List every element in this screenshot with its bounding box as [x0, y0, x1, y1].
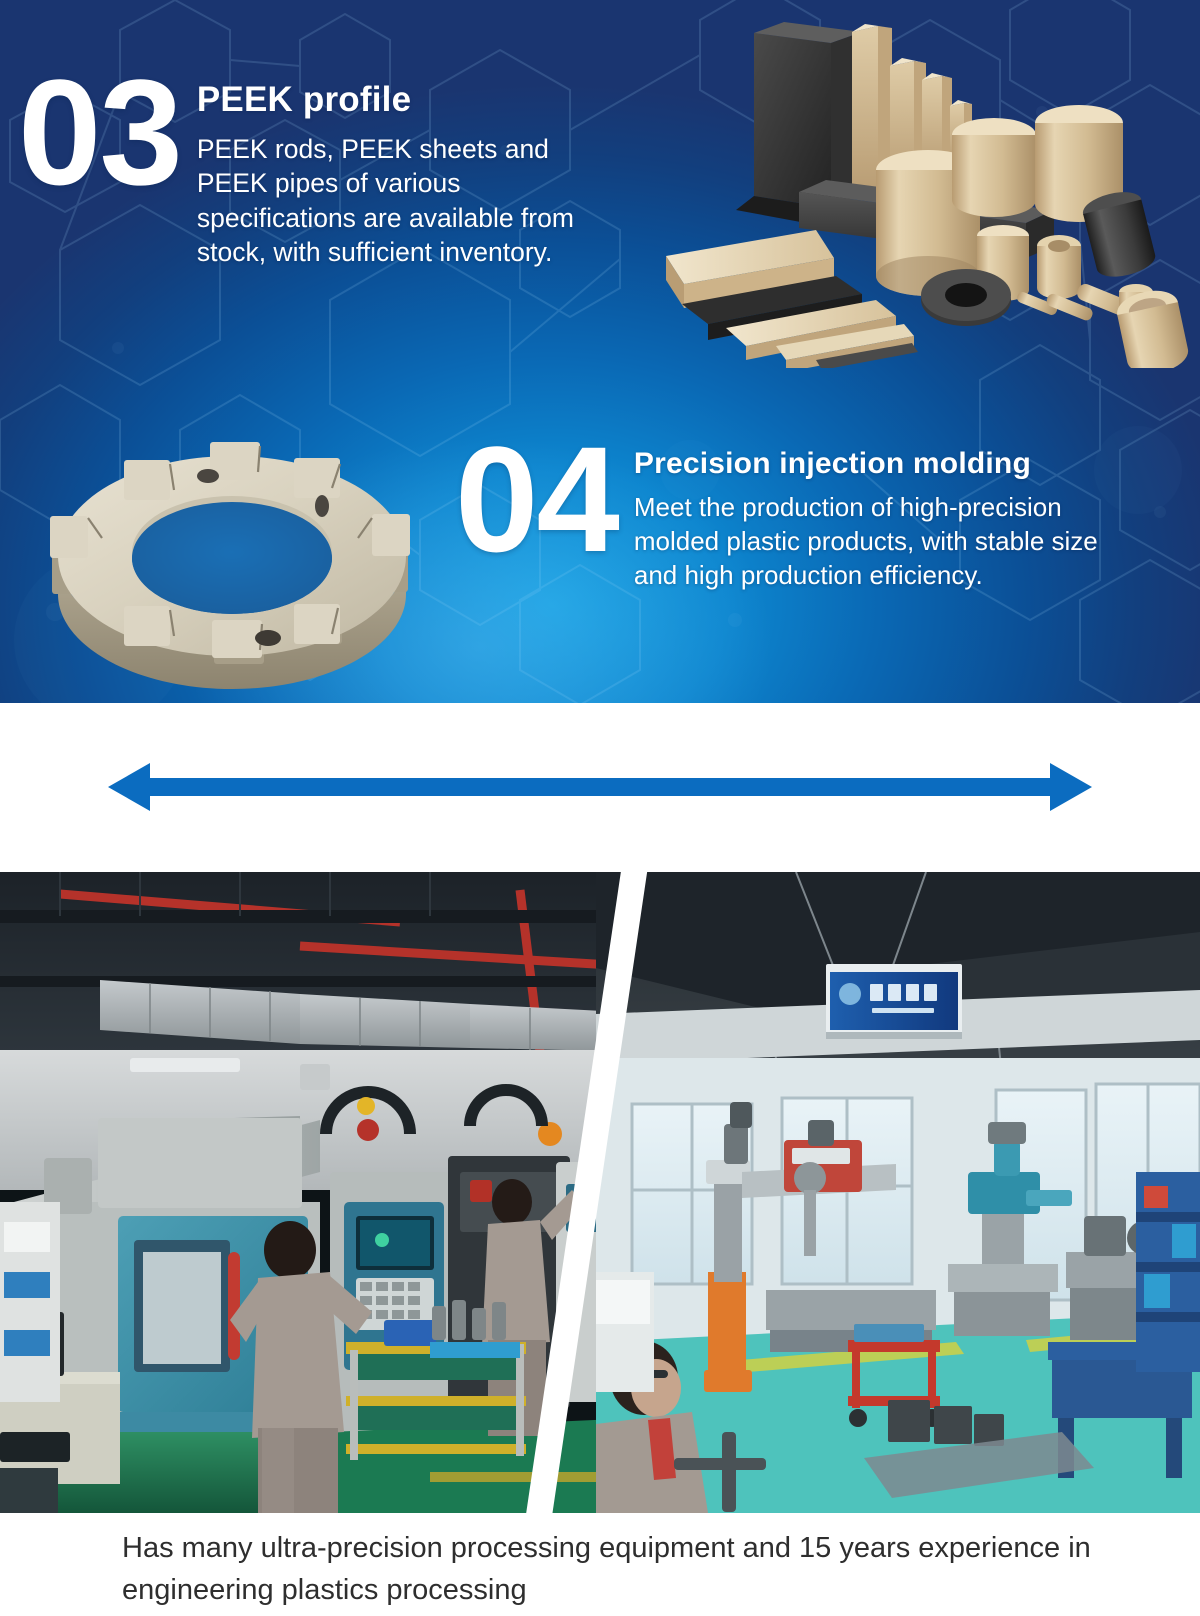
hero-panel: 03 PEEK profile PEEK rods, PEEK sheets a…: [0, 0, 1200, 703]
feature-description-04: Meet the production of high-precision mo…: [634, 491, 1104, 592]
feature-block-03: 03 PEEK profile PEEK rods, PEEK sheets a…: [18, 72, 627, 270]
feature-number-03: 03: [18, 66, 181, 198]
arrow-left-icon: [108, 763, 600, 811]
mold-workshop-photo: [596, 872, 1200, 1513]
feature-block-04: 04 Precision injection molding Meet the …: [455, 437, 1104, 592]
feature-description-03: PEEK rods, PEEK sheets and PEEK pipes of…: [197, 132, 627, 270]
double-arrow-decoration: [100, 759, 1100, 815]
peek-profiles-product-image: [666, 8, 1200, 368]
caption-bar: Has many ultra-precision processing equi…: [0, 1513, 1200, 1616]
feature-text-04: Precision injection molding Meet the pro…: [634, 437, 1104, 592]
feature-title-03: PEEK profile: [197, 80, 627, 120]
workshop-sign: [826, 964, 962, 1039]
feature-number-04: 04: [455, 433, 618, 565]
caption-text: Has many ultra-precision processing equi…: [122, 1527, 1102, 1611]
arrow-right-icon: [600, 763, 1092, 811]
feature-text-03: PEEK profile PEEK rods, PEEK sheets and …: [197, 72, 627, 270]
our-strengths-banner: Our strengths: [0, 703, 1200, 868]
peek-machined-ring-image: [32, 398, 432, 690]
feature-title-04: Precision injection molding: [634, 447, 1104, 481]
factory-photo-strip: [0, 872, 1200, 1513]
